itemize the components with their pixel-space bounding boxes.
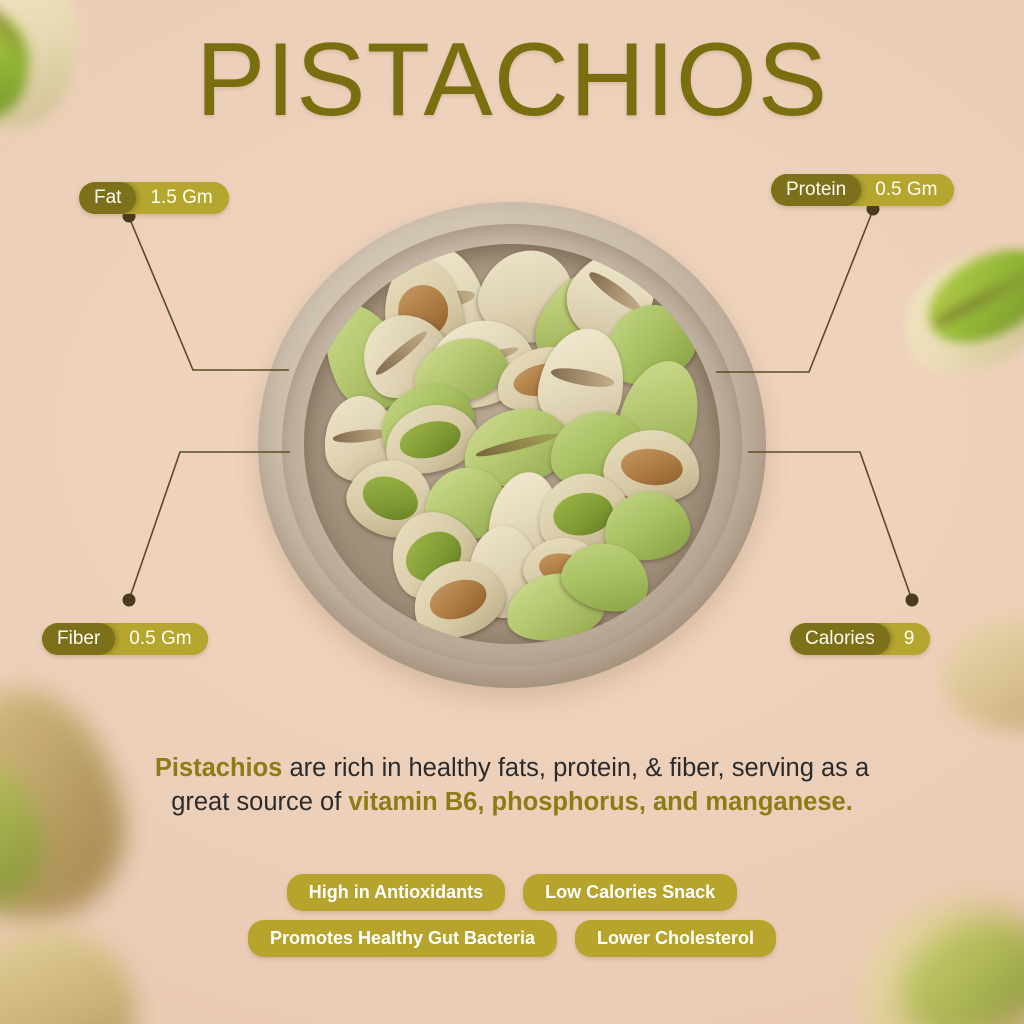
nutrient-pill-fat[interactable]: Fat 1.5 Gm [79, 182, 229, 214]
nutrient-label-fat: Fat [79, 182, 136, 214]
nutrient-label-calories: Calories [790, 623, 890, 655]
nutrient-value-protein: 0.5 Gm [861, 174, 953, 206]
nutrient-pill-protein[interactable]: Protein 0.5 Gm [771, 174, 954, 206]
page-title: PISTACHIOS [0, 28, 1024, 132]
nutrient-value-fiber: 0.5 Gm [115, 623, 207, 655]
benefit-tag-lower-cholesterol[interactable]: Lower Cholesterol [575, 920, 776, 957]
nutrient-pill-fiber[interactable]: Fiber 0.5 Gm [42, 623, 208, 655]
nutrient-value-fat: 1.5 Gm [136, 182, 228, 214]
benefit-tag-low-calories-snack[interactable]: Low Calories Snack [523, 874, 737, 911]
description-lead: Pistachios [155, 754, 283, 782]
benefit-tag-list: High in Antioxidants Low Calories Snack … [0, 874, 1024, 957]
bowl-interior [304, 244, 720, 644]
benefit-tag-row-1: High in Antioxidants Low Calories Snack [287, 874, 737, 911]
nutrient-label-protein: Protein [771, 174, 861, 206]
description-paragraph: Pistachios are rich in healthy fats, pro… [150, 752, 874, 820]
nutrient-label-fiber: Fiber [42, 623, 115, 655]
benefit-tag-high-in-antioxidants[interactable]: High in Antioxidants [287, 874, 505, 911]
description-highlight: vitamin B6, phosphorus, and manganese. [348, 788, 852, 816]
pistachio-bowl-image [238, 186, 786, 702]
nutrient-pill-calories[interactable]: Calories 9 [790, 623, 930, 655]
benefit-tag-row-2: Promotes Healthy Gut Bacteria Lower Chol… [248, 920, 776, 957]
infographic-canvas: PISTACHIOS [0, 0, 1024, 1024]
benefit-tag-promotes-healthy-gut-bacteria[interactable]: Promotes Healthy Gut Bacteria [248, 920, 557, 957]
nutrient-value-calories: 9 [890, 623, 931, 655]
